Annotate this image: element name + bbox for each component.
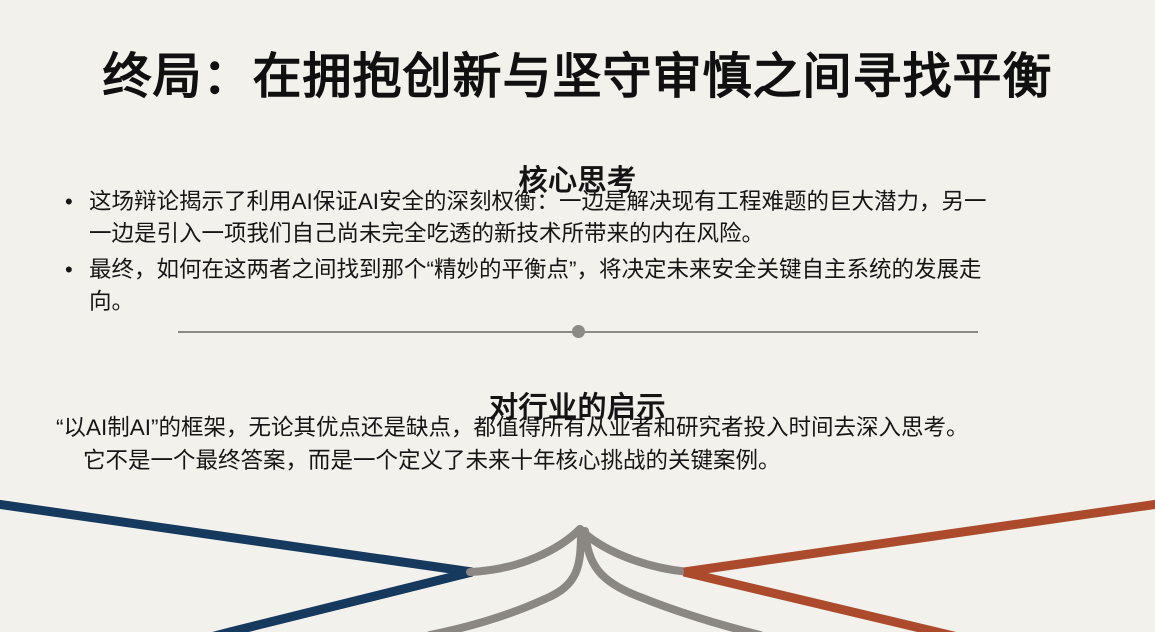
navy-line-upper <box>0 503 472 572</box>
gray-curve-left-up <box>470 529 580 572</box>
gray-curve-lower-left <box>430 531 581 632</box>
bullet-marker-icon: • <box>65 186 73 217</box>
bullet-line: 这场辩论揭示了利用AI保证AI安全的深刻权衡：一边是解决现有工程难题的巨大潜力，… <box>89 186 1111 218</box>
page-title: 终局：在拥抱创新与坚守审慎之间寻找平衡 <box>0 49 1155 107</box>
bullet-line: 最终，如何在这两者之间找到那个“精妙的平衡点”，将决定未来安全关键自主系统的发展… <box>89 254 1111 286</box>
list-item: • 最终，如何在这两者之间找到那个“精妙的平衡点”，将决定未来安全关键自主系统的… <box>56 254 1111 318</box>
gray-curve-lower-right <box>585 531 760 632</box>
list-item: • 这场辩论揭示了利用AI保证AI安全的深刻权衡：一边是解决现有工程难题的巨大潜… <box>56 186 1111 250</box>
paragraph-line: “以AI制AI”的框架，无论其优点还是缺点，都值得所有从业者和研究者投入时间去深… <box>56 411 1106 444</box>
bullet-line: 一边是引入一项我们自己尚未完全吃透的新技术所带来的内在风险。 <box>89 218 1111 250</box>
bullet-line: 向。 <box>89 286 1111 318</box>
converging-lines-graphic <box>0 487 1155 632</box>
industry-paragraph: “以AI制AI”的框架，无论其优点还是缺点，都值得所有从业者和研究者投入时间去深… <box>56 411 1106 478</box>
bullet-marker-icon: • <box>65 254 73 285</box>
section-divider <box>178 322 978 342</box>
gray-curve-right-down <box>580 529 688 572</box>
rust-line-lower <box>684 572 1000 632</box>
divider-dot-icon <box>572 325 585 338</box>
paragraph-line: 它不是一个最终答案，而是一个定义了未来十年核心挑战的关键案例。 <box>56 444 1106 477</box>
navy-line-lower <box>180 572 472 632</box>
slide-canvas: 终局：在拥抱创新与坚守审慎之间寻找平衡 核心思考 • 这场辩论揭示了利用AI保证… <box>0 0 1155 632</box>
core-bullet-list: • 这场辩论揭示了利用AI保证AI安全的深刻权衡：一边是解决现有工程难题的巨大潜… <box>56 186 1111 322</box>
rust-line-upper <box>684 503 1155 572</box>
